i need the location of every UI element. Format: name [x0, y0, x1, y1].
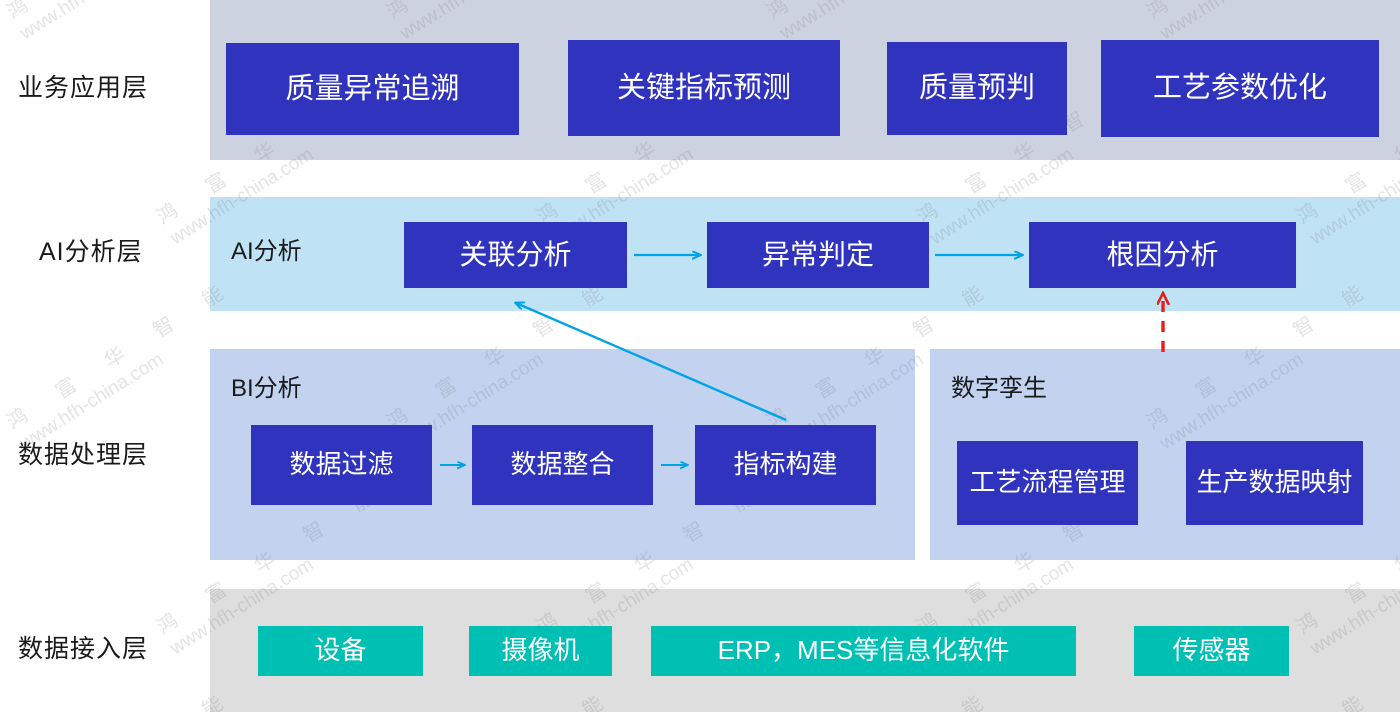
access-box-camera[interactable]: 摄像机	[469, 626, 612, 676]
access-box-label: ERP，MES等信息化软件	[718, 636, 1010, 665]
business-box-quality-prediction[interactable]: 质量预判	[887, 42, 1067, 135]
bi-box-label: 指标构建	[733, 450, 837, 479]
ai-box-label: 异常判定	[762, 239, 874, 270]
twin-box-label: 工艺流程管理	[969, 468, 1125, 497]
section-title-ai-analysis: AI分析	[231, 240, 302, 264]
business-box-label: 质量预判	[919, 72, 1035, 104]
access-box-equipment[interactable]: 设备	[258, 626, 423, 676]
twin-box-label: 生产数据映射	[1196, 468, 1352, 497]
business-box-label: 工艺参数优化	[1153, 72, 1327, 104]
watermark-tile: 鸿 富 华 智 能www.hfh-china.com	[0, 474, 24, 660]
ai-box-label: 根因分析	[1106, 239, 1218, 270]
bi-box-label: 数据整合	[510, 450, 614, 479]
bi-box-label: 数据过滤	[289, 450, 393, 479]
ai-box-root-cause-analysis[interactable]: 根因分析	[1029, 222, 1296, 288]
business-box-quality-trace[interactable]: 质量异常追溯	[226, 43, 519, 135]
watermark-brand-cn: 鸿 富 华 智 能	[0, 269, 241, 435]
bi-box-data-filter[interactable]: 数据过滤	[251, 425, 432, 505]
ai-box-anomaly-judgement[interactable]: 异常判定	[707, 222, 929, 288]
bi-box-data-integration[interactable]: 数据整合	[472, 425, 653, 505]
access-box-label: 设备	[314, 636, 366, 665]
bi-box-metric-construction[interactable]: 指标构建	[695, 425, 876, 505]
ai-box-label: 关联分析	[459, 239, 571, 270]
row-label-access: 数据接入层	[18, 637, 148, 662]
ai-box-correlation-analysis[interactable]: 关联分析	[404, 222, 627, 288]
business-box-kpi-forecast[interactable]: 关键指标预测	[568, 40, 840, 136]
access-box-label: 摄像机	[501, 636, 579, 665]
watermark-brand-url: www.hfh-china.com	[0, 90, 24, 250]
row-label-business: 业务应用层	[18, 76, 148, 101]
row-label-processing: 数据处理层	[18, 443, 148, 468]
watermark-brand-cn: 鸿 富 华 智 能	[0, 64, 11, 230]
business-box-process-param-optimization[interactable]: 工艺参数优化	[1101, 40, 1379, 137]
business-box-label: 质量异常追溯	[285, 73, 459, 105]
section-title-bi-analysis: BI分析	[231, 377, 302, 401]
section-title-digital-twin: 数字孪生	[951, 377, 1047, 401]
watermark-brand-cn: 鸿 富 华 智 能	[0, 679, 241, 712]
twin-box-production-data-mapping[interactable]: 生产数据映射	[1186, 441, 1363, 525]
access-box-erp-mes-software[interactable]: ERP，MES等信息化软件	[651, 626, 1076, 676]
twin-box-process-flow-management[interactable]: 工艺流程管理	[957, 441, 1138, 525]
access-box-label: 传感器	[1172, 636, 1250, 665]
watermark-brand-cn: 鸿 富 华 智 能	[0, 474, 11, 640]
watermark-brand-cn: 鸿 富 华 智 能	[0, 0, 241, 25]
row-label-ai: AI分析层	[39, 240, 143, 265]
diagram-canvas: 业务应用层 AI分析层 数据处理层 数据接入层 质量异常追溯 关键指标预测 质量…	[0, 0, 1400, 712]
business-box-label: 关键指标预测	[617, 72, 791, 104]
access-box-sensor[interactable]: 传感器	[1134, 626, 1289, 676]
